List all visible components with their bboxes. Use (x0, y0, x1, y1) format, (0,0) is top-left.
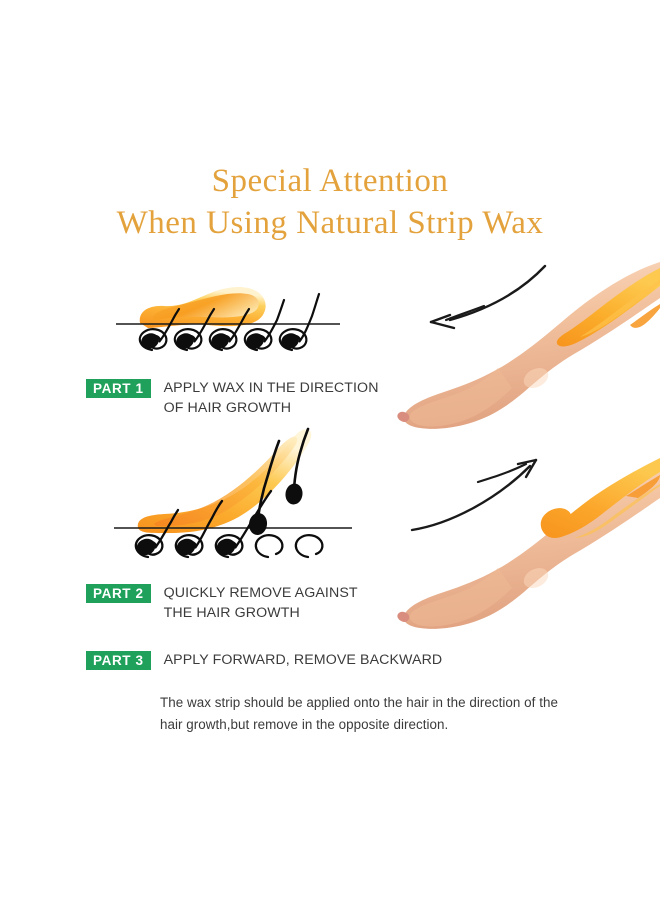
leg-wax-removed-photo (378, 450, 660, 640)
page-title: Special Attention When Using Natural Str… (0, 160, 660, 244)
wax-strip-shape (138, 429, 311, 533)
title-line-1: Special Attention (0, 160, 660, 202)
direction-arrow-left-icon (431, 266, 545, 328)
step-part-1: PART 1 APPLY WAX IN THE DIRECTION OF HAI… (86, 378, 379, 418)
step-2-text: QUICKLY REMOVE AGAINST THE HAIR GROWTH (164, 583, 358, 623)
step-3-text: APPLY FORWARD, REMOVE BACKWARD (164, 650, 443, 670)
direction-arrow-up-right-icon (412, 460, 536, 530)
step-part-2: PART 2 QUICKLY REMOVE AGAINST THE HAIR G… (86, 583, 358, 623)
wax-strip-peeling-shape (541, 458, 660, 538)
badge-part-1: PART 1 (86, 379, 151, 398)
poster-page: Special Attention When Using Natural Str… (0, 0, 660, 900)
wax-strip-pulled-up-diagram (108, 425, 358, 570)
leg-wax-applied-photo (378, 250, 660, 440)
step-part-3: PART 3 APPLY FORWARD, REMOVE BACKWARD (86, 650, 442, 670)
leg-shape (397, 262, 660, 429)
wax-applied-over-hair-follicles-diagram (108, 262, 348, 367)
badge-part-3: PART 3 (86, 651, 151, 670)
wax-blob-shape (140, 287, 266, 328)
title-line-2: When Using Natural Strip Wax (0, 202, 660, 244)
step-1-text: APPLY WAX IN THE DIRECTION OF HAIR GROWT… (164, 378, 379, 418)
instruction-note: The wax strip should be applied onto the… (160, 692, 600, 736)
badge-part-2: PART 2 (86, 584, 151, 603)
